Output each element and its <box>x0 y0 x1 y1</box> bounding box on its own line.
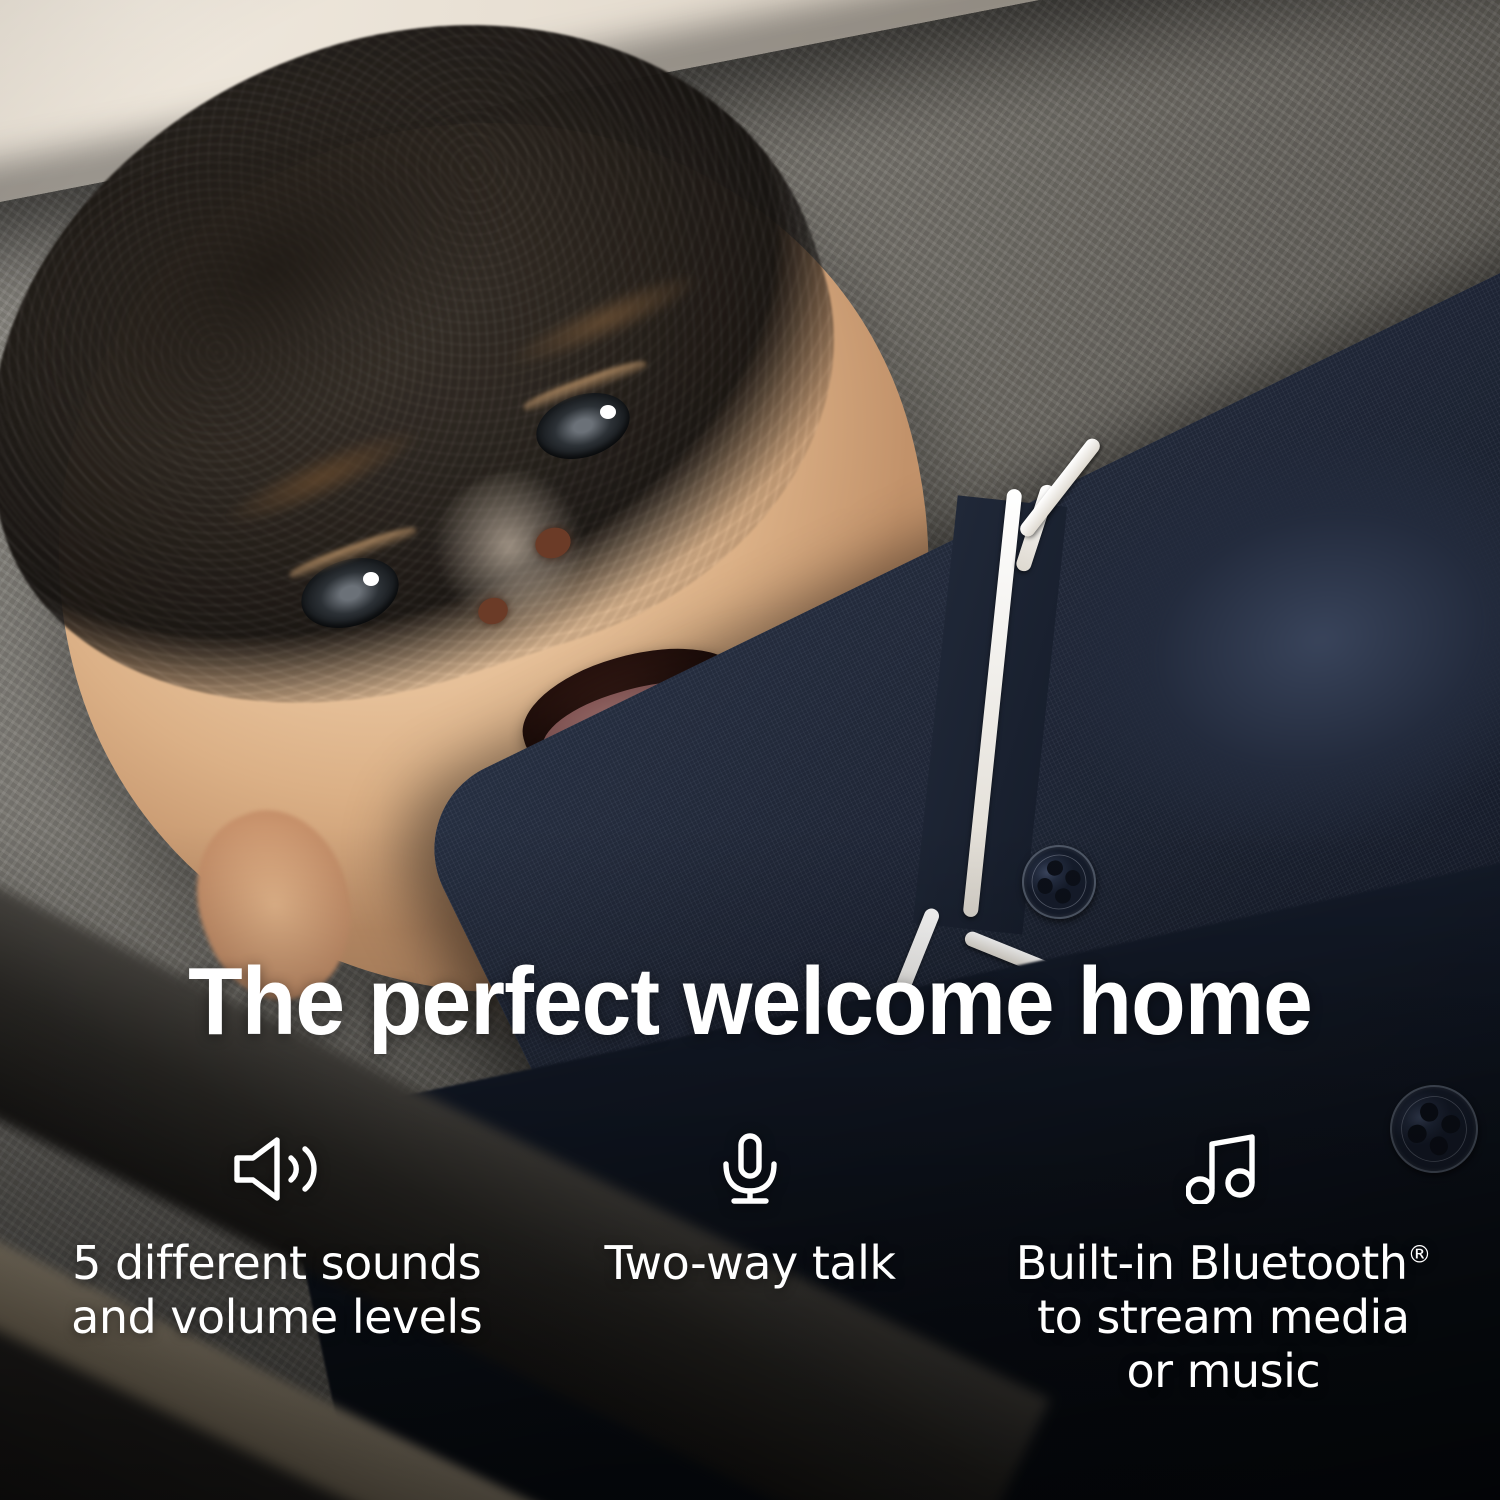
promo-image: The perfect welcome home 5 different sou… <box>0 0 1500 1500</box>
microphone-icon <box>715 1130 785 1208</box>
page-title: The perfect welcome home <box>53 952 1448 1052</box>
feature-bluetooth: Built-in Bluetooth® to stream media or m… <box>987 1130 1460 1398</box>
feature-two-way-talk: Two-way talk <box>513 1130 986 1290</box>
feature-sounds: 5 different sounds and volume levels <box>40 1130 513 1344</box>
feature-row: 5 different sounds and volume levels Two… <box>40 1130 1460 1398</box>
speaker-volume-icon <box>231 1130 323 1208</box>
feature-bluetooth-line2: to stream media <box>1037 1290 1409 1344</box>
feature-sounds-label: 5 different sounds and volume levels <box>71 1236 482 1344</box>
registered-trademark-symbol: ® <box>1408 1241 1431 1269</box>
feature-bluetooth-label: Built-in Bluetooth® to stream media or m… <box>1016 1236 1431 1398</box>
feature-bluetooth-line1: Built-in Bluetooth <box>1016 1236 1408 1290</box>
feature-sounds-line1: 5 different sounds <box>72 1236 481 1290</box>
feature-two-way-talk-label: Two-way talk <box>604 1236 895 1290</box>
feature-talk-line1: Two-way talk <box>604 1236 895 1290</box>
text-overlay: The perfect welcome home 5 different sou… <box>0 0 1500 1500</box>
feature-bluetooth-line3: or music <box>1126 1344 1320 1398</box>
feature-sounds-line2: and volume levels <box>71 1290 482 1344</box>
music-note-icon <box>1186 1130 1260 1208</box>
